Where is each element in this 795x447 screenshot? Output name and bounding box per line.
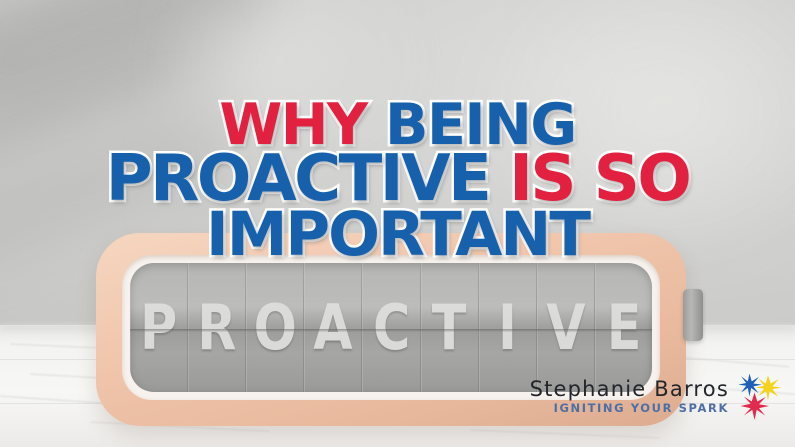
flip-panel-letter: E [606, 297, 640, 359]
brand-logo-text: Stephanie Barros IGNITING YOUR SPARK [530, 379, 729, 415]
flip-panel-letter: R [197, 297, 235, 359]
flip-clock-knob[interactable] [683, 289, 703, 341]
brand-tagline: IGNITING YOUR SPARK [530, 403, 729, 415]
wood-grain-line [470, 429, 660, 439]
flip-panel: P [130, 263, 188, 392]
flip-panel: C [362, 263, 420, 392]
flip-panel: R [188, 263, 246, 392]
flip-split-line [130, 329, 652, 332]
flip-panel-letter: I [498, 297, 516, 359]
brand-logo[interactable]: Stephanie Barros IGNITING YOUR SPARK [530, 369, 787, 425]
flip-panel: O [246, 263, 304, 392]
title-card-canvas: P R O A C T I V E WHY BEING PROACTIVE IS… [0, 0, 795, 447]
flip-panel-letter: P [140, 297, 176, 359]
flip-panel: I [479, 263, 537, 392]
headline: WHY BEING PROACTIVE IS SO IMPORTANT [0, 98, 795, 264]
brand-name: Stephanie Barros [530, 379, 729, 400]
headline-word-important: IMPORTANT [206, 199, 589, 270]
flip-panel-letter: C [373, 297, 410, 359]
flip-panel-letter: V [546, 297, 585, 359]
flip-panel-letter: T [432, 297, 466, 359]
flip-panel-letter: O [254, 297, 296, 359]
spark-burst-icon [731, 369, 787, 425]
flip-panel: A [304, 263, 362, 392]
flip-panel: T [421, 263, 479, 392]
flip-panel-letter: A [314, 297, 353, 359]
